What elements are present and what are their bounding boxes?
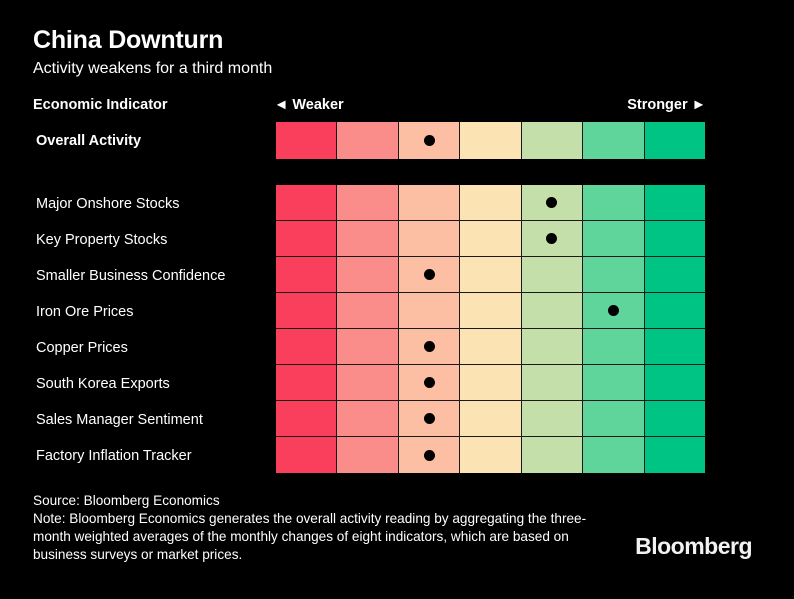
heatmap-cell	[276, 185, 337, 220]
reading-marker-dot	[424, 341, 435, 352]
row-label-indicator: Sales Manager Sentiment	[36, 413, 203, 428]
heatmap-cell	[583, 401, 644, 436]
heatmap-cell	[522, 185, 583, 220]
heatmap-row	[276, 365, 705, 401]
heatmap-cell	[276, 401, 337, 436]
heatmap-cell	[645, 329, 705, 364]
footer-note: Note: Bloomberg Economics generates the …	[33, 510, 608, 564]
heatmap-cell	[399, 122, 460, 159]
heatmap-cell	[276, 365, 337, 400]
heatmap-cell	[522, 221, 583, 256]
heatmap-row	[276, 293, 705, 329]
heatmap-cell	[522, 437, 583, 473]
heatmap-cell	[460, 365, 521, 400]
heatmap-cell	[522, 122, 583, 159]
reading-marker-dot	[424, 377, 435, 388]
heatmap-cell	[337, 437, 398, 473]
heatmap-cell	[399, 437, 460, 473]
heatmap-cell	[645, 257, 705, 292]
chart-subtitle: Activity weakens for a third month	[33, 60, 272, 78]
heatmap-cell	[399, 293, 460, 328]
heatmap-cell	[276, 437, 337, 473]
heatmap-cell	[583, 329, 644, 364]
heatmap-cell	[460, 401, 521, 436]
heatmap-cell	[276, 257, 337, 292]
heatmap-row	[276, 221, 705, 257]
heatmap-cell	[276, 293, 337, 328]
heatmap-cell	[583, 221, 644, 256]
heatmap-cell	[583, 365, 644, 400]
heatmap-cell	[276, 221, 337, 256]
heatmap-cell	[583, 293, 644, 328]
heatmap-cell	[337, 221, 398, 256]
heatmap-cell	[276, 122, 337, 159]
axis-label-stronger: Stronger ►	[627, 97, 706, 113]
heatmap-cell	[460, 329, 521, 364]
chart-title: China Downturn	[33, 27, 223, 55]
heatmap-row	[276, 185, 705, 221]
heatmap-cell	[522, 257, 583, 292]
heatmap-cell	[645, 185, 705, 220]
heatmap-cell	[399, 257, 460, 292]
heatmap-row	[276, 437, 705, 473]
reading-marker-dot	[424, 269, 435, 280]
heatmap-cell	[460, 221, 521, 256]
row-label-indicator: South Korea Exports	[36, 377, 170, 392]
heatmap-cell	[645, 122, 705, 159]
heatmap-cell	[399, 329, 460, 364]
reading-marker-dot	[424, 135, 435, 146]
row-label-indicator: Smaller Business Confidence	[36, 269, 225, 284]
heatmap-cell	[460, 185, 521, 220]
reading-marker-dot	[546, 233, 557, 244]
reading-marker-dot	[608, 305, 619, 316]
heatmap-cell	[337, 185, 398, 220]
heatmap-cell	[337, 401, 398, 436]
heatmap-cell	[583, 122, 644, 159]
heatmap-row	[276, 257, 705, 293]
heatmap-cell	[337, 122, 398, 159]
heatmap-grid	[276, 185, 705, 473]
row-label-indicator: Copper Prices	[36, 341, 128, 356]
heatmap-cell	[522, 365, 583, 400]
bloomberg-logo: Bloomberg	[635, 533, 752, 560]
heatmap-cell	[460, 257, 521, 292]
row-label-indicator: Major Onshore Stocks	[36, 197, 179, 212]
heatmap-row	[276, 329, 705, 365]
reading-marker-dot	[424, 413, 435, 424]
footer-text: Source: Bloomberg Economics Note: Bloomb…	[33, 492, 608, 564]
heatmap-cell	[645, 221, 705, 256]
heatmap-cell	[460, 437, 521, 473]
heatmap-cell	[276, 329, 337, 364]
row-label-overall-activity: Overall Activity	[36, 134, 141, 149]
heatmap-cell	[399, 401, 460, 436]
heatmap-cell	[337, 329, 398, 364]
heatmap-cell	[522, 401, 583, 436]
axis-label-weaker: ◄ Weaker	[274, 97, 344, 113]
heatmap-cell	[522, 329, 583, 364]
heatmap-cell	[337, 365, 398, 400]
heatmap-cell	[645, 293, 705, 328]
row-label-indicator: Factory Inflation Tracker	[36, 449, 192, 464]
heatmap-cell	[460, 122, 521, 159]
heatmap-row-overall-activity	[276, 122, 705, 159]
heatmap-cell	[399, 185, 460, 220]
heatmap-cell	[583, 257, 644, 292]
reading-marker-dot	[546, 197, 557, 208]
heatmap-cell	[399, 365, 460, 400]
chart-container: China Downturn Activity weakens for a th…	[0, 0, 794, 599]
heatmap-cell	[337, 293, 398, 328]
heatmap-cell	[460, 293, 521, 328]
heatmap-cell	[583, 437, 644, 473]
heatmap-cell	[645, 365, 705, 400]
heatmap-cell	[399, 221, 460, 256]
reading-marker-dot	[424, 450, 435, 461]
heatmap-cell	[583, 185, 644, 220]
footer-source: Source: Bloomberg Economics	[33, 492, 608, 510]
heatmap-cell	[337, 257, 398, 292]
heatmap-cell	[522, 293, 583, 328]
heatmap-row	[276, 401, 705, 437]
heatmap-cell	[645, 437, 705, 473]
row-label-indicator: Key Property Stocks	[36, 233, 167, 248]
heatmap-cell	[645, 401, 705, 436]
row-label-indicator: Iron Ore Prices	[36, 305, 134, 320]
column-header-economic-indicator: Economic Indicator	[33, 97, 168, 113]
